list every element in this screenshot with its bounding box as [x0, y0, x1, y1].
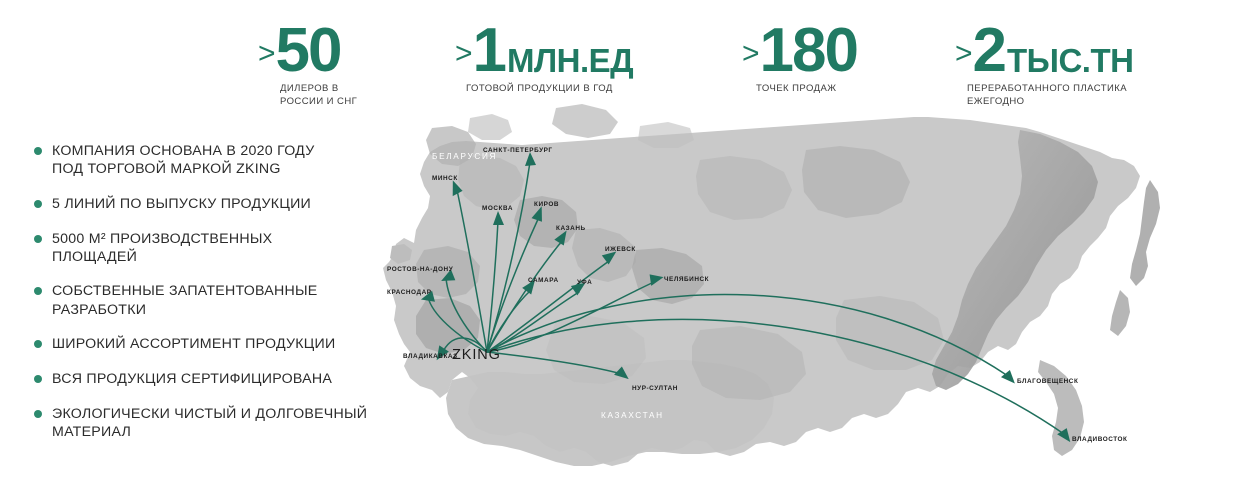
city-label: ИЖЕВСК: [605, 246, 636, 253]
stat-number: 180: [760, 24, 857, 77]
city-label: КАЗАНЬ: [556, 225, 586, 232]
bullet-dot-icon: [34, 410, 42, 418]
city-label: САМАРА: [528, 277, 559, 284]
stat-value-row: > 1 МЛН.ЕД: [455, 24, 633, 77]
list-item-label: 5 ЛИНИЙ ПО ВЫПУСКУ ПРОДУКЦИИ: [52, 196, 311, 212]
bullet-dot-icon: [34, 340, 42, 348]
city-label: КИРОВ: [534, 201, 559, 208]
city-label: ЧЕЛЯБИНСК: [664, 276, 709, 283]
greater-than-icon: >: [955, 41, 972, 67]
list-item-label: 5000 м² ПРОИЗВОДСТВЕННЫХ ПЛОЩАДЕЙ: [52, 231, 272, 265]
list-item: 5000 м² ПРОИЗВОДСТВЕННЫХ ПЛОЩАДЕЙ: [32, 230, 392, 266]
stat-caption: ТОЧЕК ПРОДАЖ: [756, 83, 859, 96]
city-label: ВЛАДИВОСТОК: [1072, 436, 1128, 443]
greater-than-icon: >: [258, 41, 275, 67]
greater-than-icon: >: [742, 41, 759, 67]
list-item: ЭКОЛОГИЧЕСКИ ЧИСТЫЙ И ДОЛГОВЕЧНЫЙ МАТЕРИ…: [32, 405, 392, 441]
stat-value-row: > 50: [258, 24, 357, 77]
map-landmass: [383, 104, 1160, 466]
map-region-sakhalin: [1110, 290, 1130, 336]
stat-unit: ТЫС.ТН: [1007, 47, 1133, 75]
stat-number: 2: [973, 24, 1005, 77]
list-item-label: ШИРОКИЙ АССОРТИМЕНТ ПРОДУКЦИИ: [52, 336, 335, 352]
map-region-kamchatka: [1130, 180, 1160, 286]
map-island-taimyr: [638, 122, 694, 148]
country-label: КАЗАХСТАН: [601, 411, 664, 420]
bullet-dot-icon: [34, 235, 42, 243]
city-label: МИНСК: [432, 175, 458, 182]
stat-block-output: > 1 МЛН.ЕД ГОТОВОЙ ПРОДУКЦИИ В ГОД: [455, 24, 633, 96]
hub-label-zking: ZKING: [452, 347, 501, 363]
city-label: УФА: [577, 279, 592, 286]
bullet-dot-icon: [34, 375, 42, 383]
list-item: СОБСТВЕННЫЕ ЗАПАТЕНТОВАННЫЕ РАЗРАБОТКИ: [32, 282, 392, 318]
greater-than-icon: >: [455, 41, 472, 67]
stat-caption: ДИЛЕРОВ В РОССИИ И СНГ: [280, 83, 357, 108]
list-item-label: СОБСТВЕННЫЕ ЗАПАТЕНТОВАННЫЕ РАЗРАБОТКИ: [52, 283, 318, 317]
stat-value-row: > 180: [742, 24, 859, 77]
stat-number: 50: [276, 24, 341, 77]
stats-row: > 50 ДИЛЕРОВ В РОССИИ И СНГ > 1 МЛН.ЕД Г…: [0, 0, 1250, 120]
city-label: ВЛАДИКАВКАЗ: [403, 353, 458, 360]
list-item-label: ЭКОЛОГИЧЕСКИ ЧИСТЫЙ И ДОЛГОВЕЧНЫЙ МАТЕРИ…: [52, 406, 367, 440]
bullet-dot-icon: [34, 287, 42, 295]
bullet-dot-icon: [34, 200, 42, 208]
list-item-label: КОМПАНИЯ ОСНОВАНА В 2020 ГОДУ ПОД ТОРГОВ…: [52, 143, 314, 177]
stat-caption: ГОТОВОЙ ПРОДУКЦИИ В ГОД: [466, 83, 633, 96]
list-item: ВСЯ ПРОДУКЦИЯ СЕРТИФИЦИРОВАНА: [32, 370, 392, 388]
stat-number: 1: [473, 24, 505, 77]
city-label: НУР-СУЛТАН: [632, 385, 678, 392]
infographic-root: САНКТ-ПЕТЕРБУРГМИНСКМОСКВАКИРОВКАЗАНЬИЖЕ…: [0, 0, 1250, 500]
city-label: МОСКВА: [482, 205, 513, 212]
stat-block-sale-points: > 180 ТОЧЕК ПРОДАЖ: [742, 24, 859, 96]
list-item-label: ВСЯ ПРОДУКЦИЯ СЕРТИФИЦИРОВАНА: [52, 371, 332, 387]
country-label: БЕЛАРУСИЯ: [432, 152, 497, 161]
list-item: КОМПАНИЯ ОСНОВАНА В 2020 ГОДУ ПОД ТОРГОВ…: [32, 142, 392, 178]
list-item: ШИРОКИЙ АССОРТИМЕНТ ПРОДУКЦИИ: [32, 335, 392, 353]
city-label: БЛАГОВЕЩЕНСК: [1017, 378, 1078, 385]
city-label: КРАСНОДАР: [387, 289, 432, 296]
feature-bullet-list: КОМПАНИЯ ОСНОВАНА В 2020 ГОДУ ПОД ТОРГОВ…: [32, 142, 392, 457]
stat-caption: ПЕРЕРАБОТАННОГО ПЛАСТИКА ЕЖЕГОДНО: [967, 83, 1133, 108]
stat-block-dealers: > 50 ДИЛЕРОВ В РОССИИ И СНГ: [258, 24, 357, 108]
list-item: 5 ЛИНИЙ ПО ВЫПУСКУ ПРОДУКЦИИ: [32, 195, 392, 213]
bullet-dot-icon: [34, 147, 42, 155]
stat-unit: МЛН.ЕД: [507, 47, 633, 75]
stat-value-row: > 2 ТЫС.ТН: [955, 24, 1133, 77]
stat-block-recycled-plastic: > 2 ТЫС.ТН ПЕРЕРАБОТАННОГО ПЛАСТИКА ЕЖЕГ…: [955, 24, 1133, 108]
city-label: РОСТОВ-НА-ДОНУ: [387, 266, 453, 273]
